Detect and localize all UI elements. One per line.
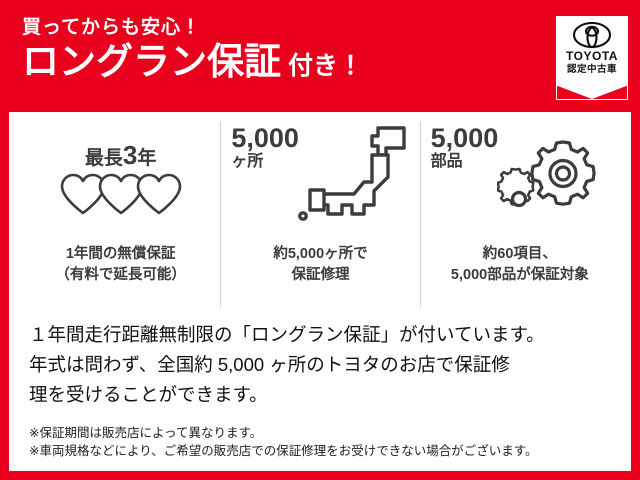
- locations-number: 5,000: [231, 126, 299, 152]
- toyota-emblem-icon: [573, 22, 611, 48]
- header-banner: 買ってからも安心！ ロングラン保証 付き！ TOYOTA 認定中古車: [0, 0, 640, 112]
- body-copy: １年間走行距離無制限の「ロングラン保証」が付いています。 年式は問わず、全国約 …: [29, 320, 615, 410]
- hearts-row: [59, 172, 183, 221]
- feature-caption-warranty-period: 1年間の無償保証 （有料で延長可能）: [55, 244, 186, 286]
- parts-number: 5,000: [431, 126, 499, 152]
- headline-suffix: 付き！: [288, 54, 363, 79]
- feature-caption-covered-parts: 約60項目、 5,000部品が保証対象: [451, 244, 589, 286]
- footnote-2: ※車両規格などにより、ご希望の販売店での保証修理をお受けできない場合がございます…: [29, 442, 615, 460]
- headline-main: ロングラン保証: [22, 43, 281, 80]
- caption-line-1: 約5,000ヶ所で: [273, 244, 367, 265]
- toyota-longrun-warranty-ad: 買ってからも安心！ ロングラン保証 付き！ TOYOTA 認定中古車: [0, 0, 640, 480]
- feature-visual-japan-map: 5,000 ヶ所: [225, 122, 415, 240]
- footnote-1: ※保証期間は販売店によって異なります。: [29, 424, 615, 442]
- content-panel: 最長3年 1年間の無償保証 （有料で延長可能: [9, 112, 631, 471]
- footnotes: ※保証期間は販売店によって異なります。 ※車両規格などにより、ご希望の販売店での…: [29, 424, 615, 460]
- caption-line-1: 1年間の無償保証: [55, 244, 186, 265]
- feature-caption-service-locations: 約5,000ヶ所で 保証修理: [273, 244, 367, 286]
- japan-map-icon: [296, 124, 408, 228]
- banner-text-block: 買ってからも安心！ ロングラン保証 付き！: [22, 18, 363, 80]
- certified-used-car-label: 認定中古車: [567, 65, 617, 75]
- max-period-prefix: 最長: [85, 148, 123, 169]
- caption-line-1: 約60項目、: [451, 244, 589, 265]
- max-period-label: 最長3年: [85, 142, 157, 168]
- feature-columns: 最長3年 1年間の無償保証 （有料で延長可能: [21, 122, 619, 307]
- three-hearts-icon: [59, 172, 183, 216]
- caption-line-2: 5,000部品が保証対象: [451, 265, 589, 286]
- caption-line-2: 保証修理: [273, 265, 367, 286]
- banner-headline: ロングラン保証 付き！: [22, 43, 363, 80]
- feature-covered-parts: 5,000 部品: [420, 122, 619, 307]
- body-line-2: 年式は問わず、全国約 5,000 ヶ所のトヨタのお店で保証修: [29, 350, 615, 380]
- parts-number-stack: 5,000 部品: [431, 126, 499, 170]
- caption-line-2: （有料で延長可能）: [55, 265, 186, 286]
- feature-visual-gears: 5,000 部品: [425, 122, 615, 240]
- locations-number-stack: 5,000 ヶ所: [231, 126, 299, 170]
- feature-warranty-period: 最長3年 1年間の無償保証 （有料で延長可能: [21, 122, 220, 307]
- toyota-wordmark: TOYOTA: [566, 50, 618, 62]
- max-period-number: 3: [123, 140, 137, 170]
- parts-unit: 部品: [431, 153, 499, 171]
- body-line-1: １年間走行距離無制限の「ロングラン保証」が付いています。: [29, 320, 615, 350]
- badge-chevron-shape: [557, 79, 627, 99]
- banner-kicker: 買ってからも安心！: [22, 18, 363, 37]
- gears-icon: [497, 138, 601, 224]
- body-line-3: 理を受けることができます。: [29, 380, 615, 410]
- feature-visual-hearts: 最長3年: [25, 122, 216, 240]
- feature-service-locations: 5,000 ヶ所 約5,000ヶ所で 保証修理: [220, 122, 419, 307]
- toyota-certified-badge: TOYOTA 認定中古車: [556, 16, 628, 100]
- max-period-suffix: 年: [137, 148, 156, 169]
- locations-unit: ヶ所: [231, 153, 299, 171]
